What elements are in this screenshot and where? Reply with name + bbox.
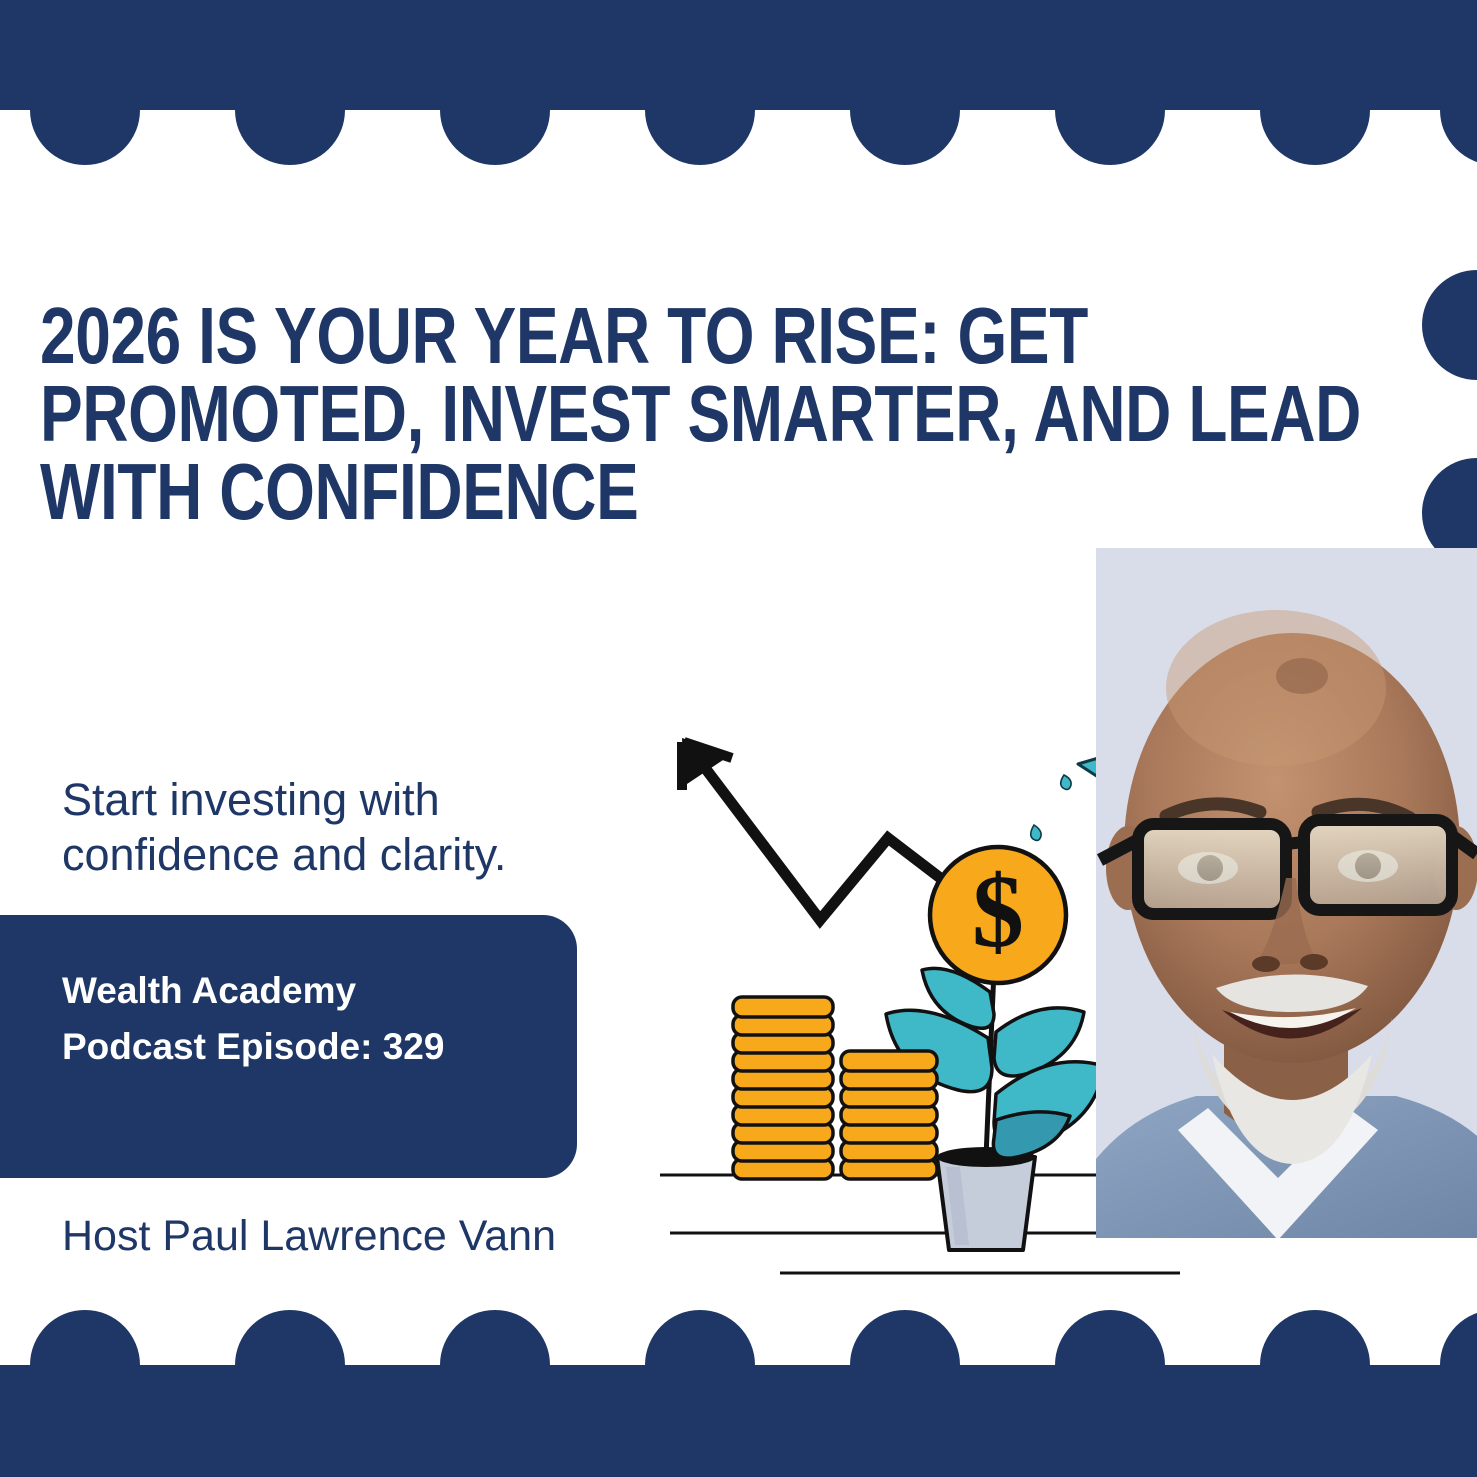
scallop-top-1 <box>30 55 140 165</box>
episode-badge: Wealth Academy Podcast Episode: 329 <box>0 915 577 1178</box>
plant-pot <box>937 1147 1035 1250</box>
dollar-symbol: $ <box>972 854 1024 969</box>
title-line-3: WITH CONFIDENCE <box>40 453 984 531</box>
subtitle-line-2: confidence and clarity. <box>62 829 506 880</box>
scallop-top-7 <box>1260 55 1370 165</box>
scallop-top-3 <box>440 55 550 165</box>
scallop-bottom-1 <box>30 1310 140 1420</box>
title-line-2: PROMOTED, INVEST SMARTER, AND LEAD <box>40 375 984 453</box>
host-portrait <box>1096 548 1477 1238</box>
badge-line-2: Podcast Episode: 329 <box>62 1019 562 1075</box>
podcast-cover-canvas: 2026 IS YOUR YEAR TO RISE: GET PROMOTED,… <box>0 0 1477 1477</box>
episode-badge-text: Wealth Academy Podcast Episode: 329 <box>62 963 562 1075</box>
droplet-1 <box>1061 775 1071 789</box>
scallop-bottom-7 <box>1260 1310 1370 1420</box>
scallop-top-4 <box>645 55 755 165</box>
scallop-top-6 <box>1055 55 1165 165</box>
scallop-bottom-2 <box>235 1310 345 1420</box>
droplet-2 <box>1031 825 1041 840</box>
scallop-bottom-3 <box>440 1310 550 1420</box>
dollar-coin: $ <box>930 847 1066 983</box>
scallop-top-5 <box>850 55 960 165</box>
scallop-right-1 <box>1422 270 1477 380</box>
title-line-1: 2026 IS YOUR YEAR TO RISE: GET <box>40 297 984 375</box>
glasses-bridge <box>1286 842 1304 844</box>
episode-subtitle: Start investing with confidence and clar… <box>62 773 622 883</box>
episode-title: 2026 IS YOUR YEAR TO RISE: GET PROMOTED,… <box>40 297 984 532</box>
leaf-5 <box>993 1112 1070 1158</box>
scallop-bottom-5 <box>850 1310 960 1420</box>
badge-line-1: Wealth Academy <box>62 963 562 1019</box>
scallop-bottom-4 <box>645 1310 755 1420</box>
coin-stack-tall <box>733 997 833 1179</box>
scallop-bottom-6 <box>1055 1310 1165 1420</box>
scallop-top-2 <box>235 55 345 165</box>
subtitle-line-1: Start investing with <box>62 774 440 825</box>
host-credit: Host Paul Lawrence Vann <box>62 1212 556 1261</box>
forehead-spot <box>1276 658 1328 694</box>
coin-stack-short <box>841 1051 937 1179</box>
crown-highlight <box>1166 610 1386 766</box>
